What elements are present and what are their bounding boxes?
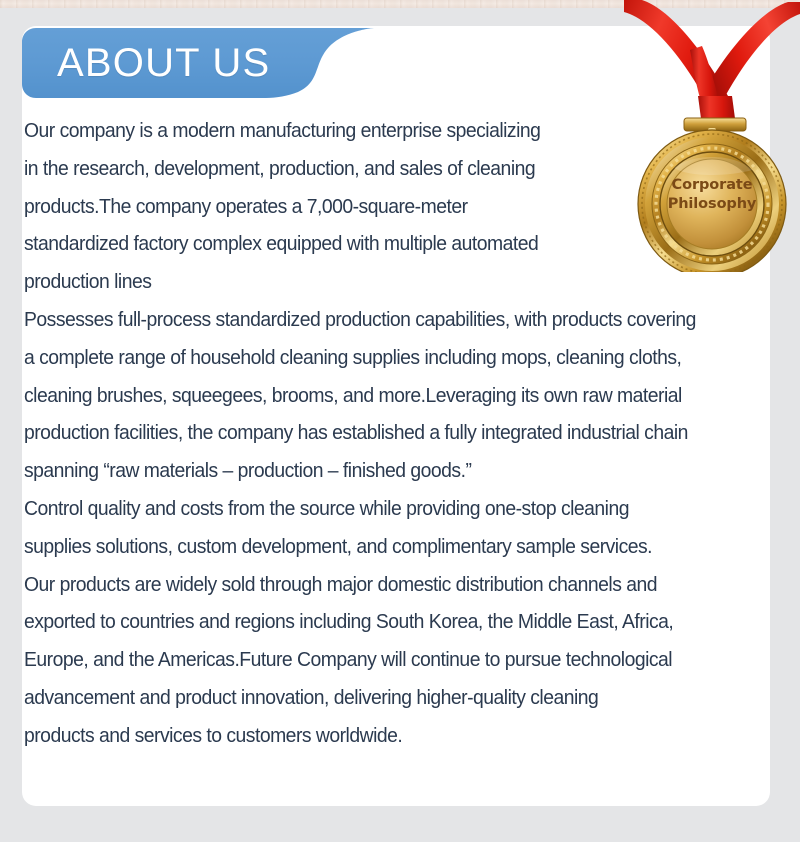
about-us-body: Our company is a modern manufacturing en… xyxy=(24,112,776,755)
paragraph-3: Control quality and costs from the sourc… xyxy=(24,490,780,755)
paragraph-1: Our company is a modern manufacturing en… xyxy=(24,112,638,301)
paragraph-2: Possesses full-process standardized prod… xyxy=(24,301,780,490)
page-title: ABOUT US xyxy=(57,39,270,87)
about-us-banner: ABOUT US xyxy=(22,26,382,98)
